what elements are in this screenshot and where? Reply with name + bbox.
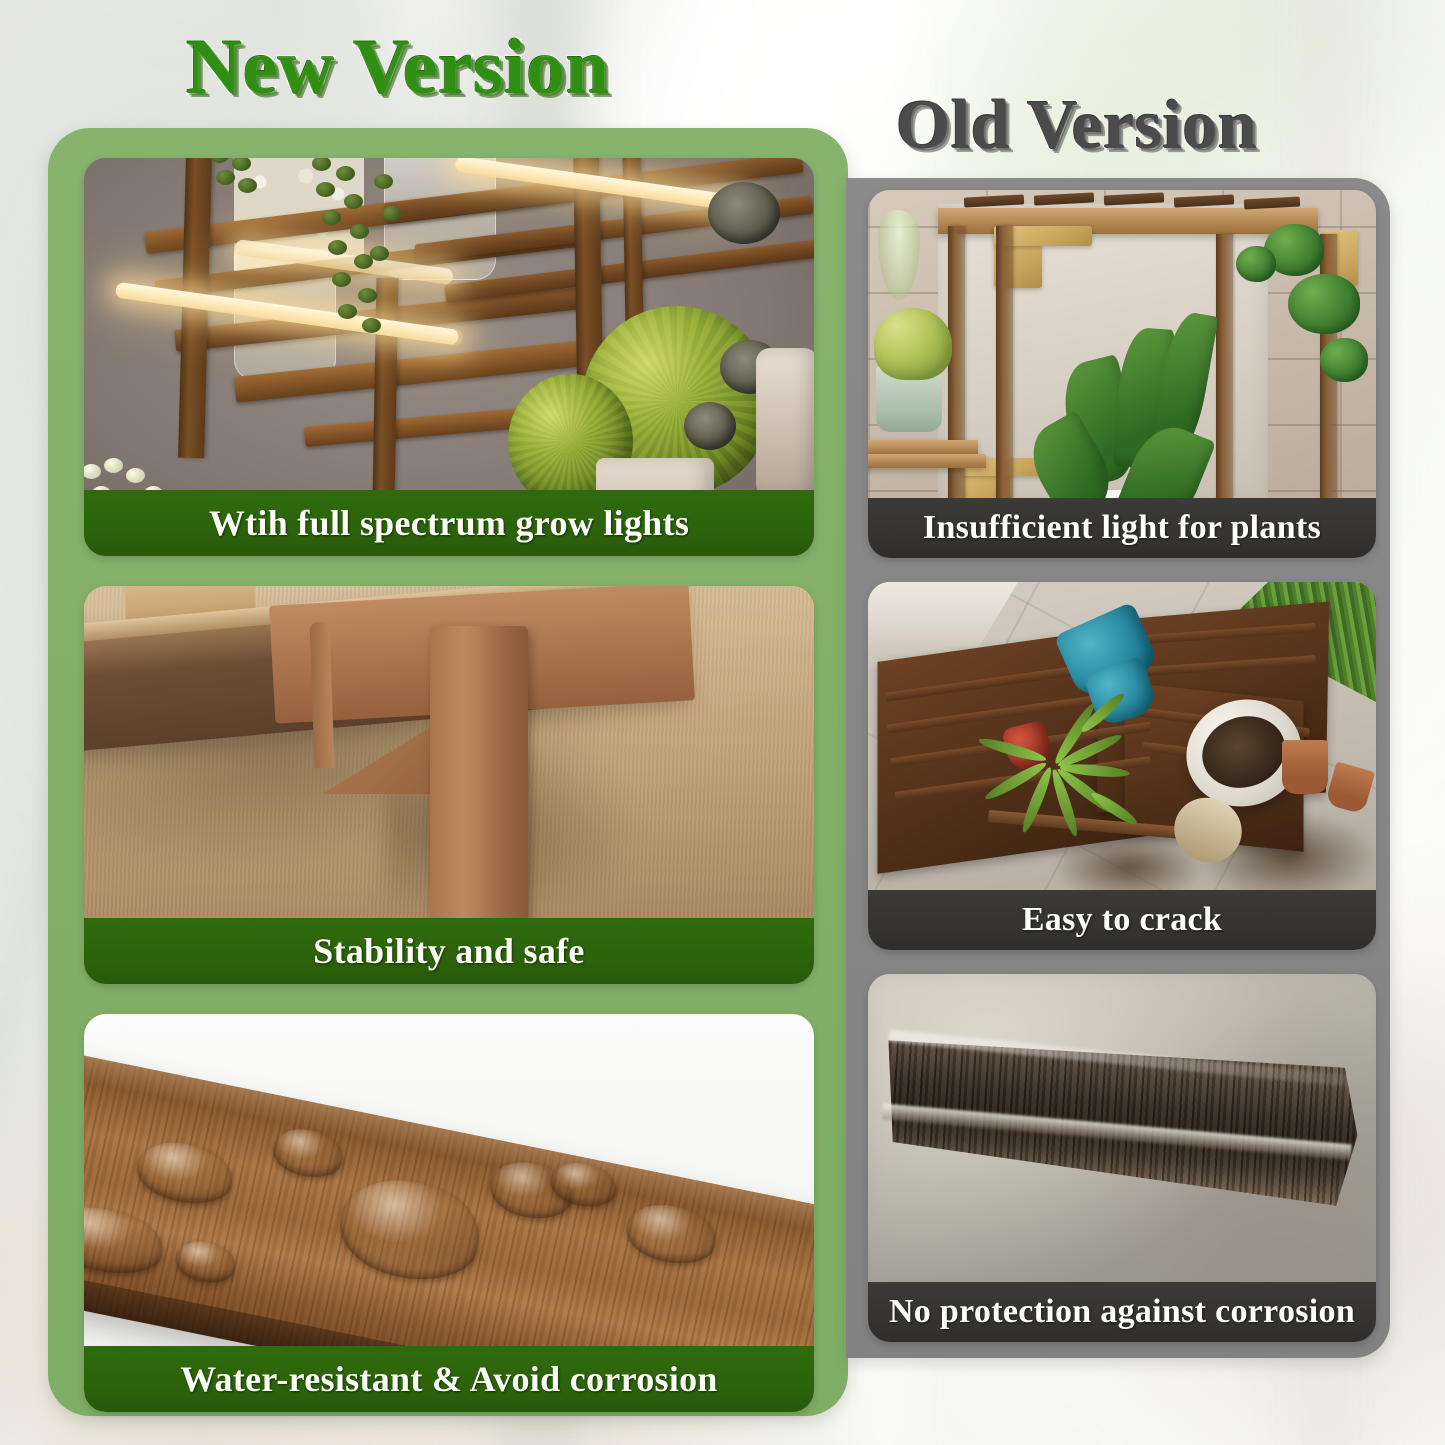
trailing-vine-plant (204, 158, 274, 208)
card-caption: No protection against corrosion (868, 1282, 1376, 1342)
old-version-card-stack: Insufficient light for plants (868, 190, 1376, 1342)
old-version-card-easy-to-crack[interactable]: Easy to crack (868, 582, 1376, 950)
trailing-vine-plant (302, 158, 412, 334)
old-version-heading: Old Version (896, 86, 1257, 166)
card-caption: Wtih full spectrum grow lights (84, 490, 814, 556)
stand-upright (1216, 234, 1233, 504)
card-caption: Water-resistant & Avoid corrosion (84, 1346, 814, 1412)
old-version-card-no-corrosion-protection[interactable]: No protection against corrosion (868, 974, 1376, 1342)
water-droplet (172, 1236, 239, 1287)
water-droplet (332, 1169, 488, 1291)
spider-plant (996, 668, 1196, 858)
dried-thistle-flower (684, 402, 736, 450)
card-caption: Easy to crack (868, 890, 1376, 950)
new-version-card-water-resistant[interactable]: Water-resistant & Avoid corrosion (84, 1014, 814, 1412)
water-droplet (132, 1135, 238, 1211)
new-version-card-stack: Wtih full spectrum grow lights Stability… (84, 158, 814, 1412)
new-version-card-grow-lights[interactable]: Wtih full spectrum grow lights (84, 158, 814, 556)
round-vine-leaf (1288, 274, 1360, 334)
ceramic-planter-pot (756, 348, 814, 498)
new-version-heading: New Version (186, 22, 610, 112)
dried-thistle-flower (708, 182, 780, 244)
round-vine-leaf (1236, 246, 1276, 282)
card-caption: Stability and safe (84, 918, 814, 984)
round-vine-leaf (1320, 338, 1368, 382)
card-caption: Insufficient light for plants (868, 498, 1376, 558)
succulent-plant (874, 308, 952, 380)
new-version-card-stability[interactable]: Stability and safe (84, 586, 814, 984)
old-version-card-insufficient-light[interactable]: Insufficient light for plants (868, 190, 1376, 558)
stand-leg (430, 626, 528, 926)
stand-upright (996, 226, 1013, 516)
stand-lower-shelf (868, 454, 986, 468)
terracotta-pot (1282, 740, 1328, 794)
water-droplet (84, 1198, 169, 1282)
